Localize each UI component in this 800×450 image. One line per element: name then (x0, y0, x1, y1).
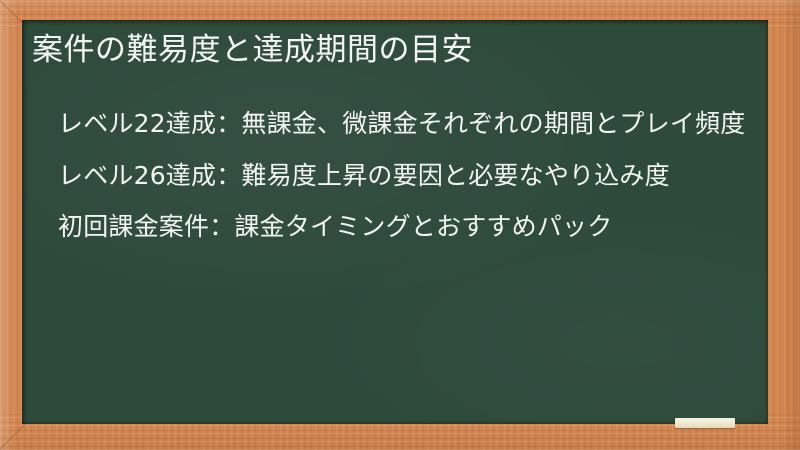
bullet-list: レベル22達成：無課金、微課金それぞれの期間とプレイ頻度 レベル26達成：難易度… (58, 106, 756, 245)
bullet-item-3: 初回課金案件：課金タイミングとおすすめパック (58, 209, 748, 245)
chalkboard-slide: 案件の難易度と達成期間の目安 レベル22達成：無課金、微課金それぞれの期間とプレ… (0, 0, 800, 450)
slide-title: 案件の難易度と達成期間の目安 (32, 32, 758, 70)
chalk-stick-icon (675, 418, 735, 428)
chalkboard-surface: 案件の難易度と達成期間の目安 レベル22達成：無課金、微課金それぞれの期間とプレ… (22, 20, 768, 424)
bullet-item-2: レベル26達成：難易度上昇の要因と必要なやり込み度 (58, 158, 748, 194)
bullet-item-1: レベル22達成：無課金、微課金それぞれの期間とプレイ頻度 (58, 106, 748, 142)
chalkboard-content: 案件の難易度と達成期間の目安 レベル22達成：無課金、微課金それぞれの期間とプレ… (22, 20, 768, 424)
